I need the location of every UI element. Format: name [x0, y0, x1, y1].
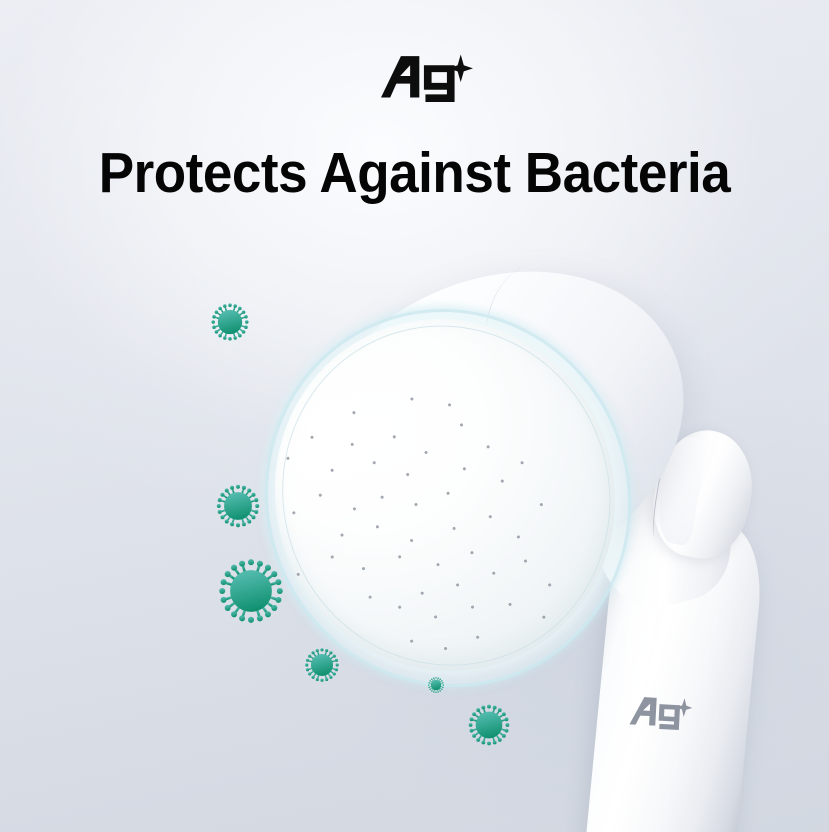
virus-particle-4 [303, 646, 341, 684]
page-title: Protects Against Bacteria [29, 141, 800, 205]
ag-plus-logo [381, 53, 473, 107]
virus-particle-3 [215, 555, 287, 627]
virus-particle-2 [214, 482, 262, 530]
virus-particle-1 [209, 301, 251, 343]
handheld-shower-head [0, 0, 829, 832]
virus-particle-5 [427, 676, 445, 694]
product-poster: Protects Against Bacteria [0, 0, 829, 832]
virus-particle-6 [466, 702, 512, 748]
nozzle-hole [296, 573, 300, 577]
ag-plus-logo-handle [629, 694, 693, 735]
